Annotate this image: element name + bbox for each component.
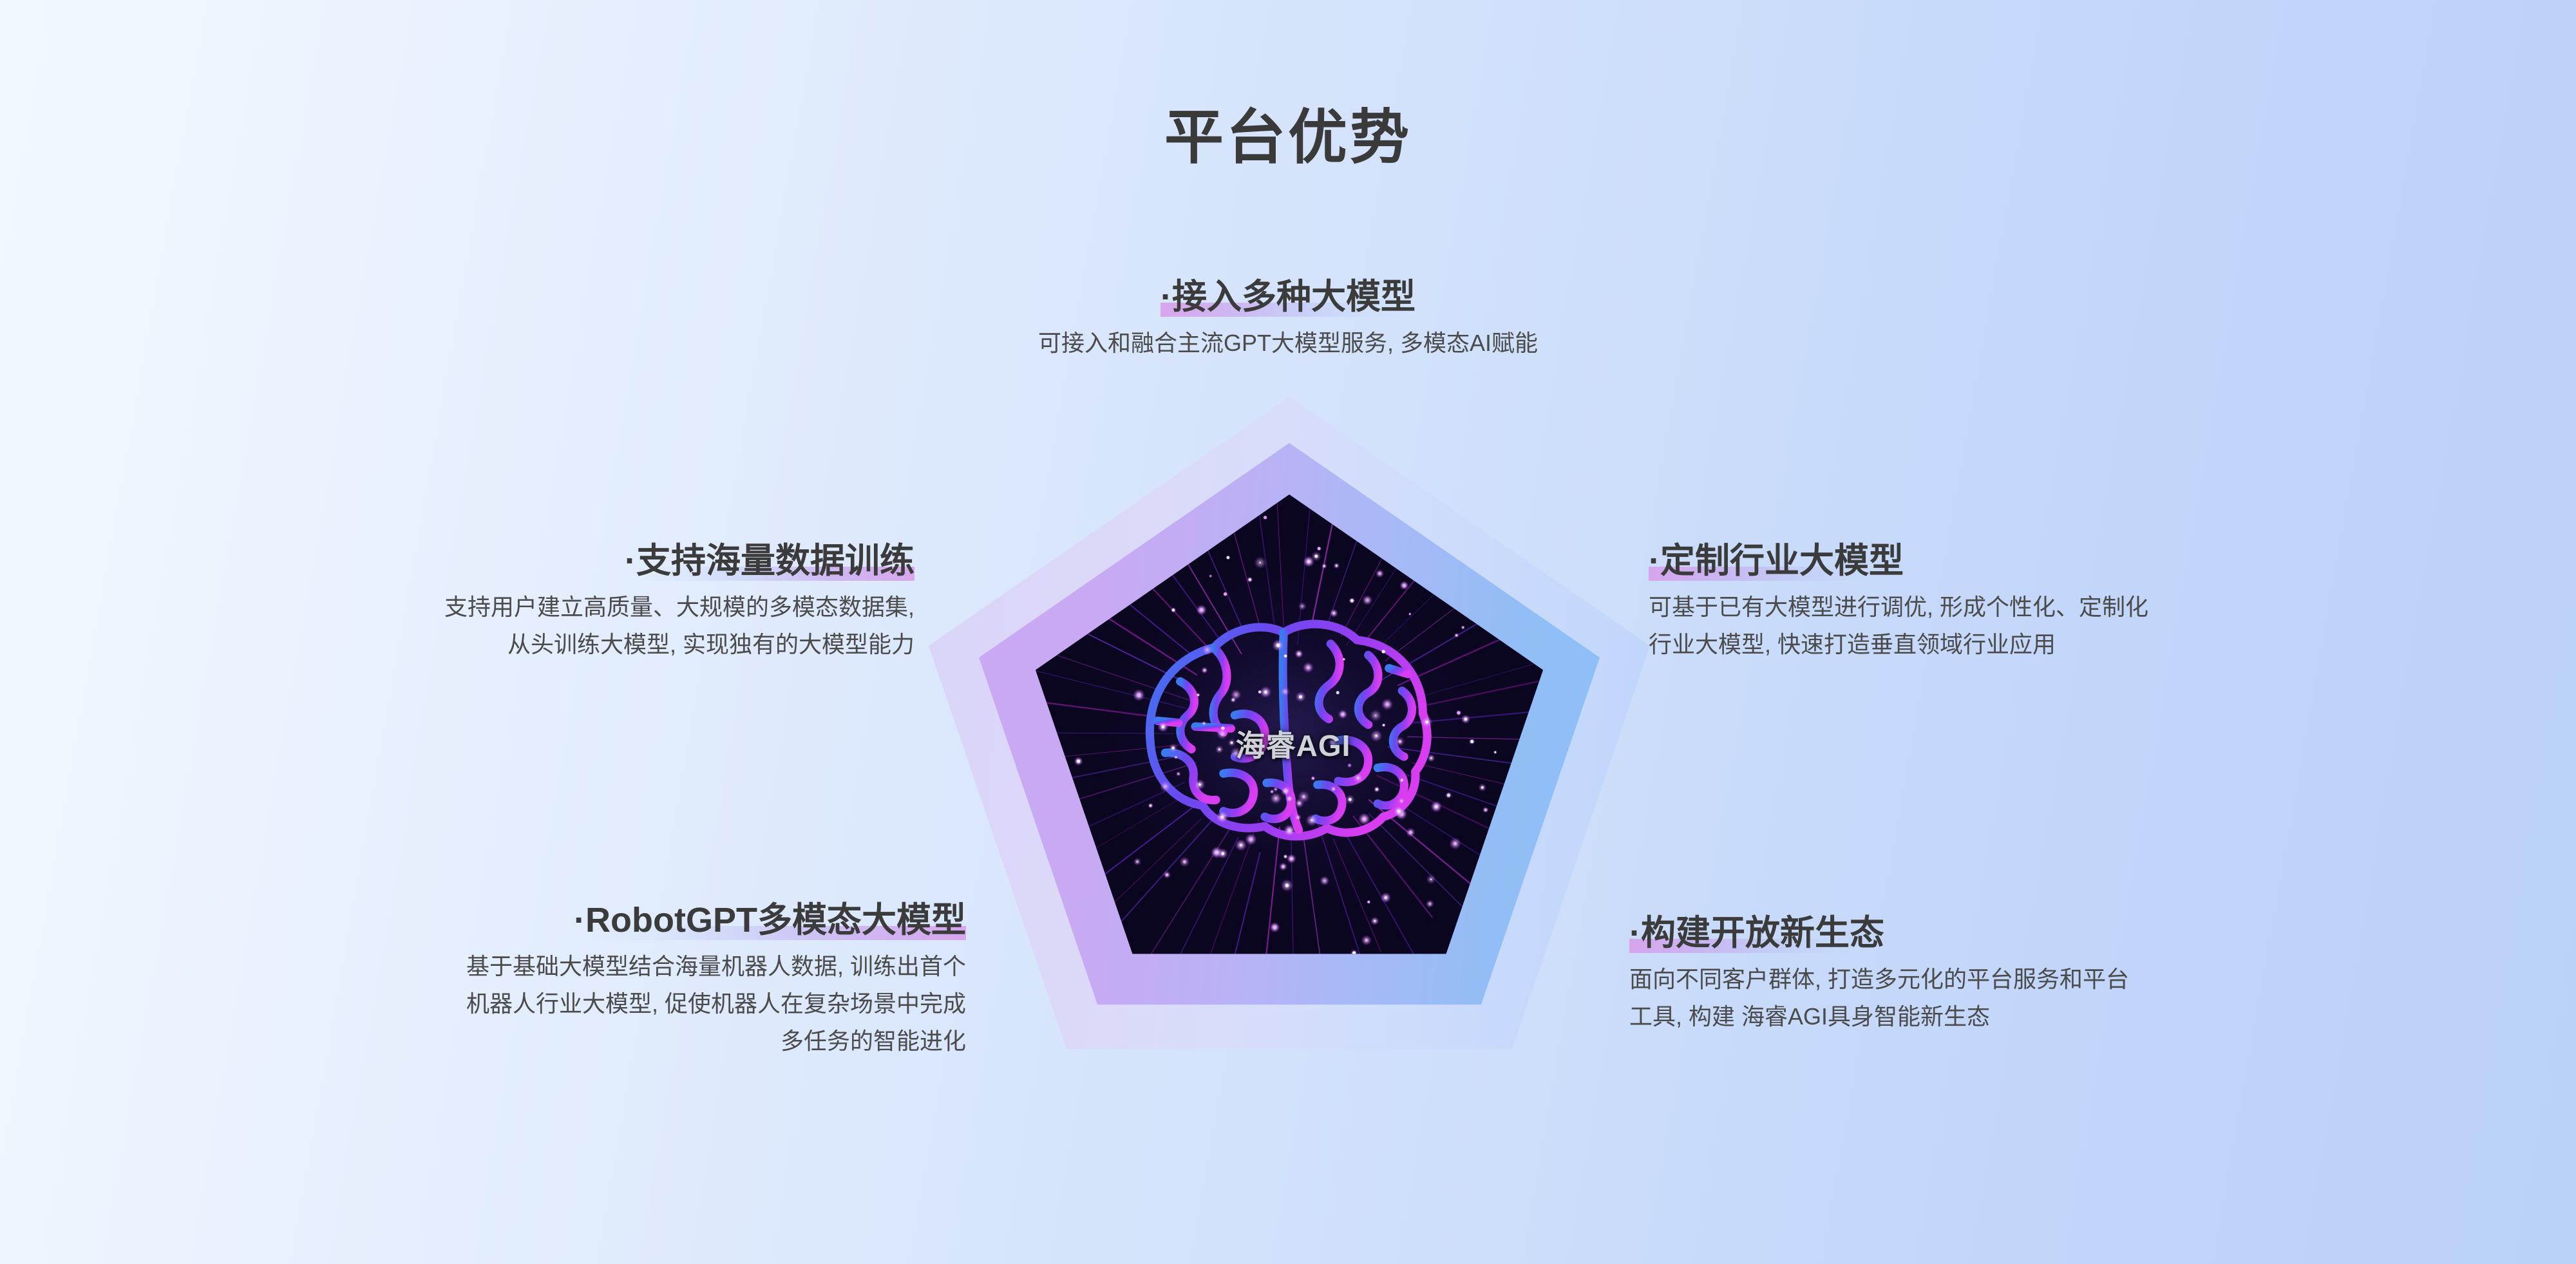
feature-massive-data-training: ·支持海量数据训练 支持用户建立高质量、大规模的多模态数据集, 从头训练大模型,… [193, 541, 914, 663]
feature-heading: ·接入多种大模型 [1160, 277, 1416, 318]
heading-text: 接入多种大模型 [1172, 278, 1416, 316]
feature-open-ecosystem: ·构建开放新生态 面向不同客户群体, 打造多元化的平台服务和平台 工具, 构建 … [1629, 913, 2434, 1035]
feature-body: 基于基础大模型结合海量机器人数据, 训练出首个 机器人行业大模型, 促使机器人在… [193, 948, 966, 1061]
feature-heading: ·RobotGPT多模态大模型 [574, 900, 966, 941]
feature-robotgpt-multimodal-model: ·RobotGPT多模态大模型 基于基础大模型结合海量机器人数据, 训练出首个 … [193, 900, 966, 1061]
bullet-dot: · [625, 542, 636, 580]
feature-custom-industry-model: ·定制行业大模型 可基于已有大模型进行调优, 形成个性化、定制化 行业大模型, … [1649, 541, 2409, 663]
page-title: 平台优势 [0, 108, 2576, 167]
heading-text: RobotGPT多模态大模型 [585, 901, 966, 939]
heading-text: 定制行业大模型 [1660, 542, 1904, 580]
center-graphic: 海睿AGI [922, 379, 1656, 1113]
bullet-dot: · [1160, 278, 1172, 316]
feature-multi-model-access: ·接入多种大模型 可接入和融合主流GPT大模型服务, 多模态AI赋能 [0, 277, 2576, 362]
bullet-dot: · [574, 901, 585, 939]
feature-body: 面向不同客户群体, 打造多元化的平台服务和平台 工具, 构建 海睿AGI具身智能… [1629, 961, 2434, 1036]
bullet-dot: · [1649, 542, 1660, 580]
feature-heading: ·构建开放新生态 [1629, 913, 1884, 954]
heading-text: 构建开放新生态 [1641, 914, 1884, 952]
feature-heading: ·支持海量数据训练 [625, 541, 914, 582]
feature-body: 可接入和融合主流GPT大模型服务, 多模态AI赋能 [0, 325, 2576, 362]
feature-body: 支持用户建立高质量、大规模的多模态数据集, 从头训练大模型, 实现独有的大模型能… [193, 589, 914, 664]
feature-body: 可基于已有大模型进行调优, 形成个性化、定制化 行业大模型, 快速打造垂直领域行… [1649, 589, 2409, 664]
heading-text: 支持海量数据训练 [636, 542, 914, 580]
bullet-dot: · [1629, 914, 1641, 952]
feature-heading: ·定制行业大模型 [1649, 541, 1904, 582]
